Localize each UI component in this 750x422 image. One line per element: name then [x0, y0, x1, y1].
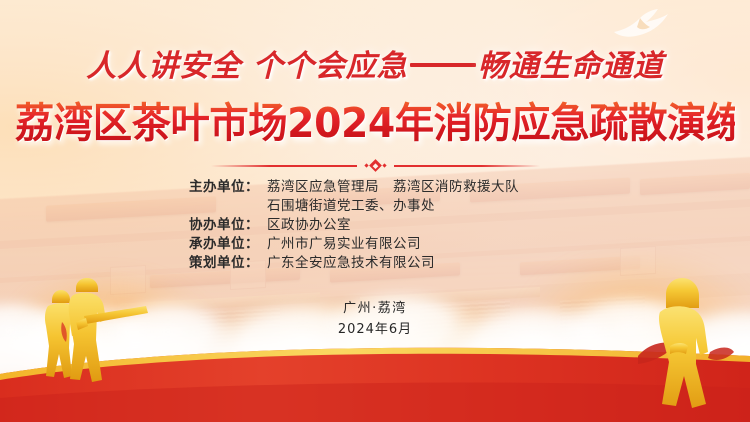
organizer-label: 协办单位： — [189, 216, 267, 235]
organizer-row: 主办单位： 荔湾区应急管理局荔湾区消防救援大队 — [189, 178, 561, 197]
organizer-label: 承办单位： — [189, 235, 267, 254]
organizer-label: 策划单位： — [189, 254, 267, 273]
subtitle-dash — [410, 63, 476, 67]
poster-footer: 广州·荔湾 2024年6月 — [0, 299, 750, 340]
organizer-value: 荔湾区应急管理局荔湾区消防救援大队 — [267, 178, 561, 197]
organizer-value: 广州市广易实业有限公司 — [267, 235, 561, 254]
organizer-row: 策划单位： 广东全安应急技术有限公司 — [189, 254, 561, 273]
organizer-row: 承办单位： 广州市广易实业有限公司 — [189, 235, 561, 254]
organizer-row: 石围塘街道党工委、办事处 — [189, 197, 561, 216]
divider-line-right — [394, 165, 540, 167]
decorative-divider — [0, 161, 750, 170]
organizer-value: 石围塘街道党工委、办事处 — [267, 197, 561, 216]
poster-main-title: 荔湾区茶叶市场2024年消防应急疏散演练 — [15, 101, 735, 147]
footer-date: 2024年6月 — [0, 320, 750, 340]
organizer-row: 协办单位： 区政协办公室 — [189, 216, 561, 235]
divider-line-left — [211, 165, 357, 167]
organizer-list: 主办单位： 荔湾区应急管理局荔湾区消防救援大队 石围塘街道党工委、办事处 协办单… — [0, 178, 750, 273]
organizer-value: 广东全安应急技术有限公司 — [267, 254, 561, 273]
organizer-label: 主办单位： — [189, 178, 267, 197]
subtitle-part-2: 畅通生命通道 — [478, 49, 664, 84]
dove-icon — [610, 6, 670, 42]
firefighter-silhouette-icon — [614, 278, 734, 410]
subtitle-part-1: 人人讲安全 个个会应急 — [86, 49, 407, 84]
footer-place: 广州·荔湾 — [0, 299, 750, 319]
diamond-ornament-icon — [365, 161, 386, 170]
organizer-value: 区政协办公室 — [267, 216, 561, 235]
poster-subtitle: 人人讲安全 个个会应急畅通生命通道 — [0, 52, 750, 82]
poster-canvas: 人人讲安全 个个会应急畅通生命通道 荔湾区茶叶市场2024年消防应急疏散演练 主… — [0, 0, 750, 422]
